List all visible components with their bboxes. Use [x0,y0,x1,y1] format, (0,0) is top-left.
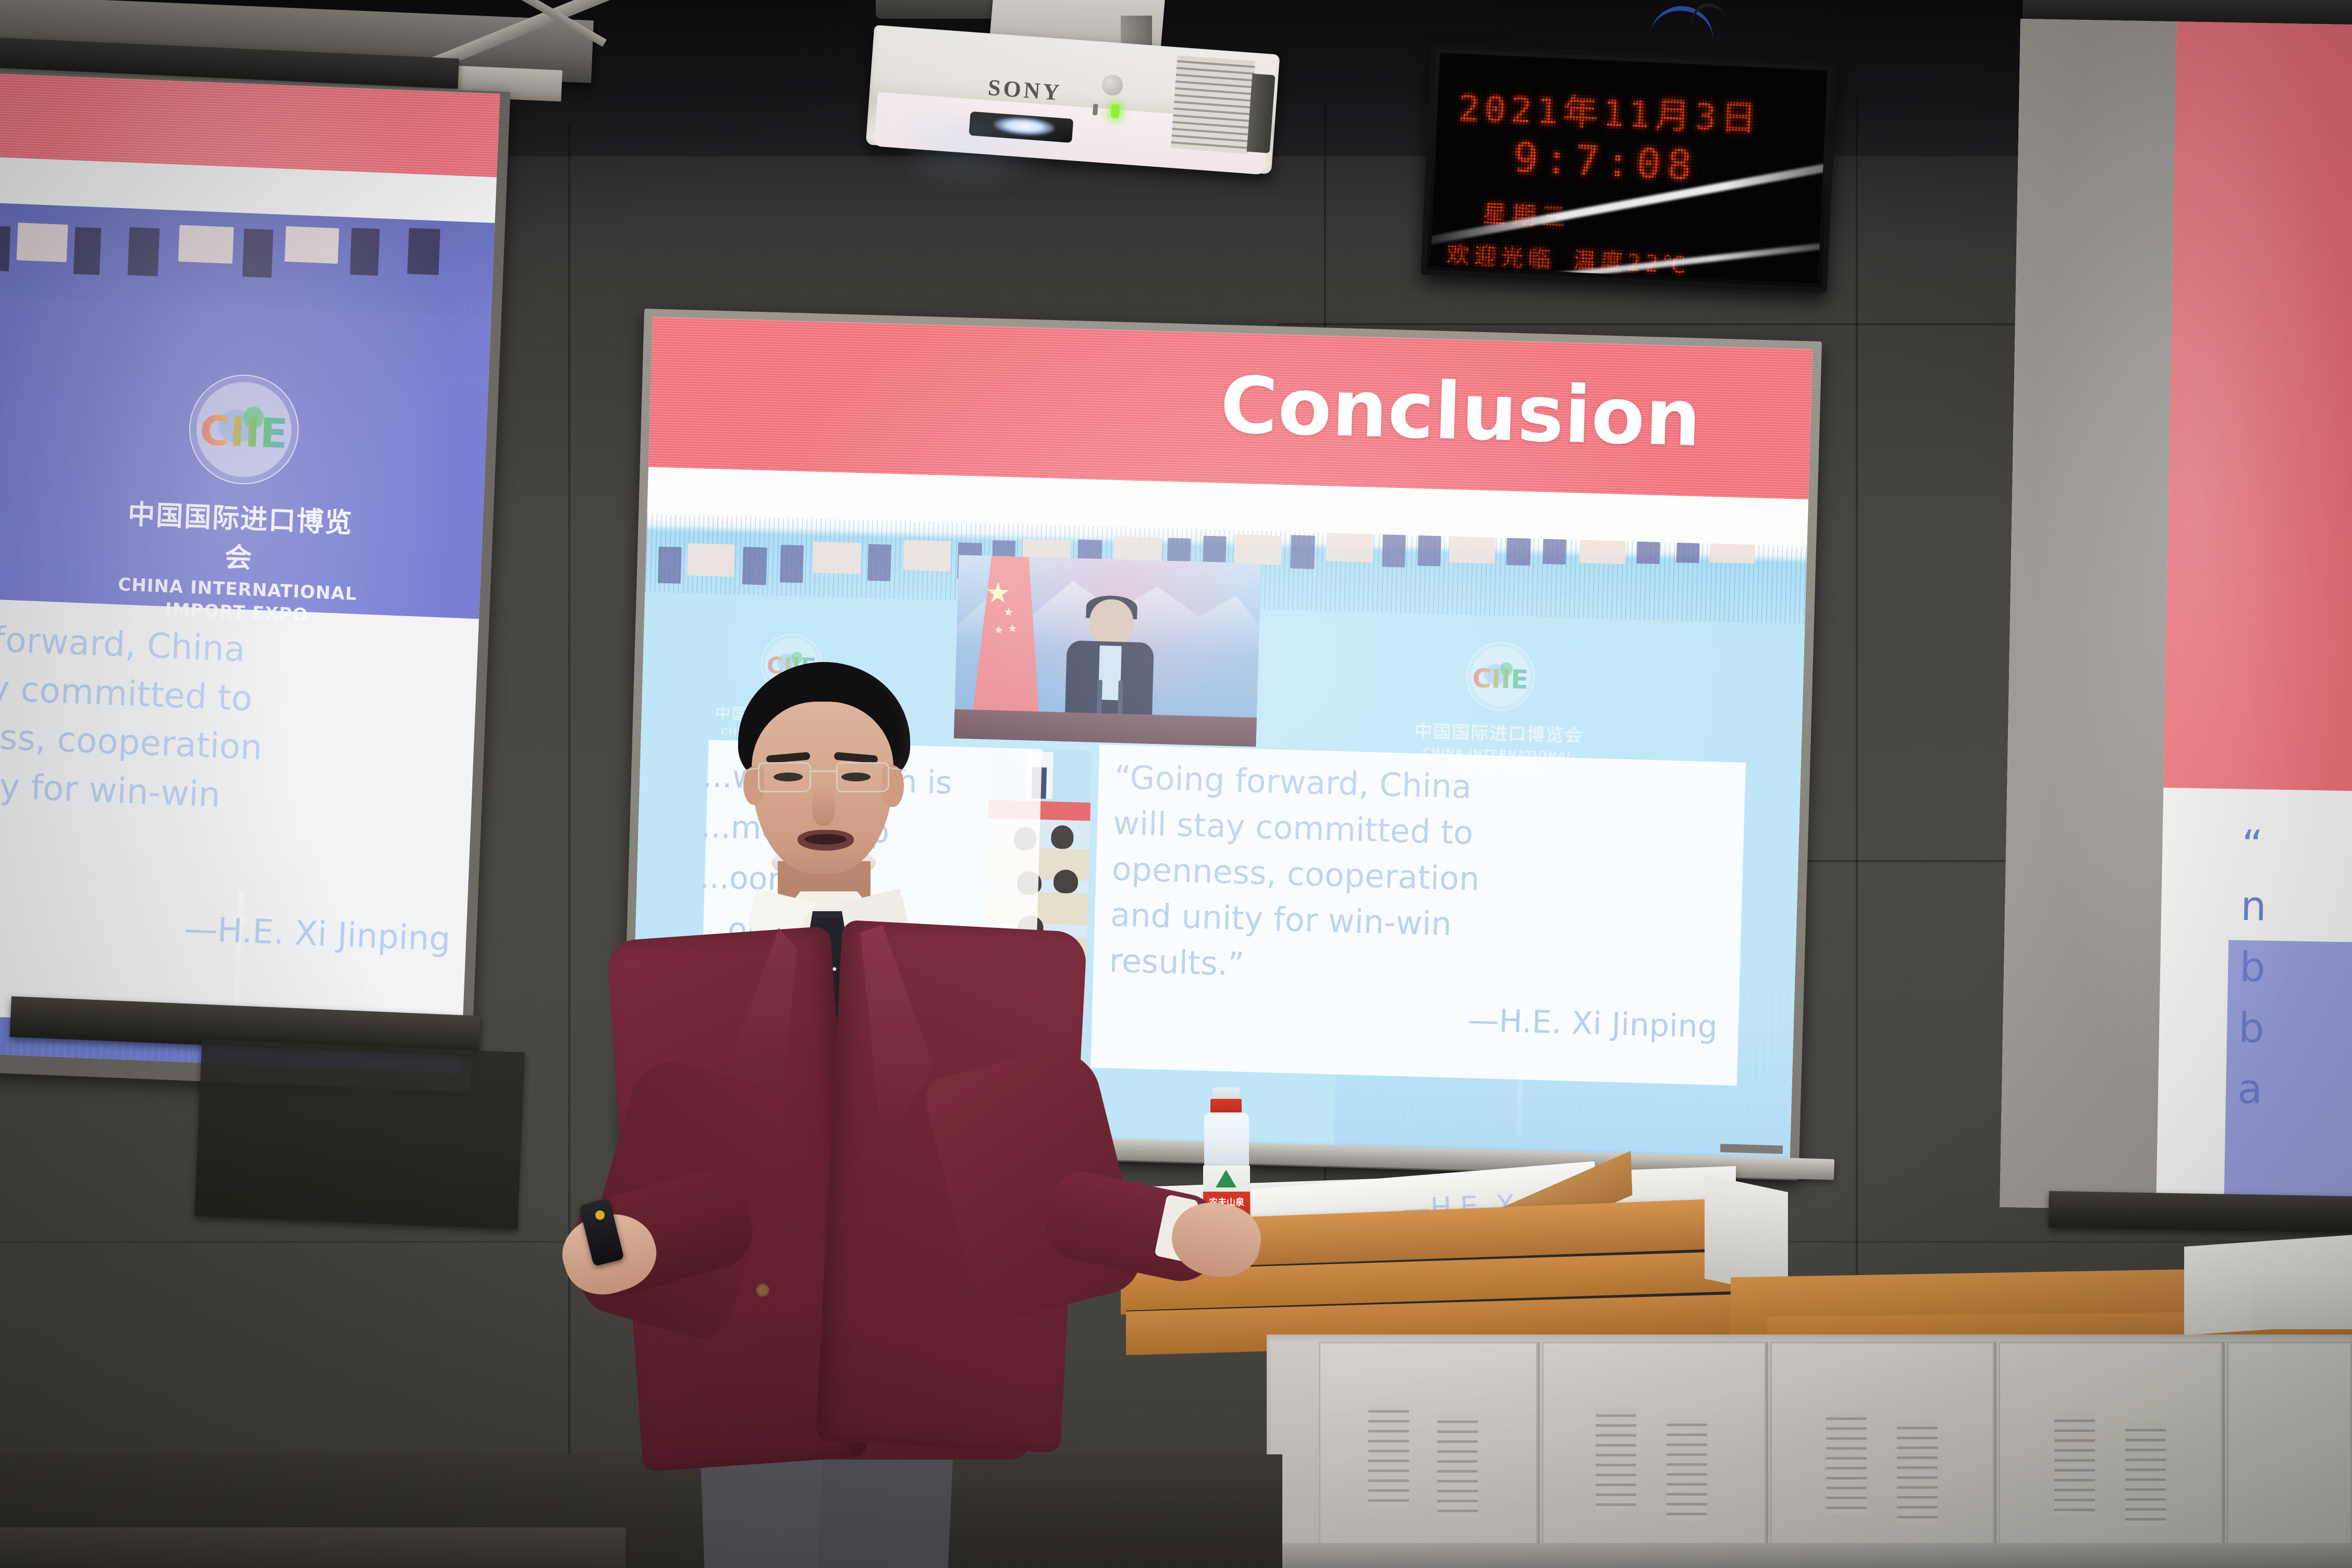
cabinet-seam [1994,1342,1996,1568]
led-message-text: 欢迎光临 温度22℃ [1446,236,1691,280]
cabinet-door[interactable] [1770,1342,1994,1568]
led-time-text: 9:7:08 [1513,134,1699,190]
lecture-hall-photo: SONY 2021年11月3日 9:7:08 星期三 欢迎光临 温度22℃ [0,0,2352,1568]
cabinet-row [1267,1334,2352,1568]
left-slide: CIIE 中国国际进口博览会 CHINA INTERNATIONAL IMPOR… [0,73,500,1073]
ciie-mark-text: CIIE [189,410,298,455]
jacket-button [756,1283,769,1297]
left-quote-text: ng forward, China stay committed to nnes… [0,613,482,879]
cabinet-door[interactable] [1542,1342,1766,1568]
cabinet-vent-icon [1826,1410,1867,1514]
right-slide-title-band [2163,21,2352,791]
main-quote-text: “Going forward, China will stay committe… [1109,754,1741,1001]
counter-equipment-box-2 [2252,1267,2352,1329]
whiteboard-tray-nub [1720,1144,1783,1154]
led-clock-display: 2021年11月3日 9:7:08 星期三 欢迎光临 温度22℃ [1420,43,1837,293]
wall-seam [1856,94,1858,1345]
ciie-chinese-text: 中国国际进口博览会 [1413,717,1585,747]
speaker-mouth-open [805,834,847,844]
cabinet-vent-icon [1897,1419,1938,1524]
cabinet-vent-icon [1667,1416,1707,1521]
right-screen-bottom-bar [2048,1191,2352,1233]
cabinet-door[interactable] [2227,1342,2352,1568]
left-projection-screen: CIIE 中国国际进口博览会 CHINA INTERNATIONAL IMPOR… [0,73,500,1073]
right-slide-dark-edge [2000,19,2177,1210]
cabinet-door[interactable] [1999,1342,2223,1568]
left-slide-body: CIIE 中国国际进口博览会 CHINA INTERNATIONAL IMPOR… [0,202,495,1073]
ciie-chinese-text: 中国国际进口博览会 [116,492,364,580]
left-ciie-logo: CIIE 中国国际进口博览会 CHINA INTERNATIONAL IMPOR… [114,370,369,628]
left-screen-shadow [194,1039,525,1230]
led-screen: 2021年11月3日 9:7:08 星期三 欢迎光临 温度22℃ [1430,53,1828,283]
projector-light-beam [907,119,1063,192]
projector-standby-led-icon [1093,104,1098,116]
cabinet-plinth [1267,1543,2352,1568]
cabinet-door[interactable] [1319,1342,1538,1568]
cabinet-vent-icon [1437,1413,1478,1517]
speaker-presenter [584,662,1189,1568]
cabinet-vent-icon [1368,1403,1409,1507]
cabinet-seam [2223,1342,2225,1568]
projector-brand-label: SONY [987,74,1063,106]
led-date-text: 2021年11月3日 [1457,79,1762,141]
floor-edge [0,1527,626,1568]
right-projection-screen: “ n b b a [2000,19,2352,1214]
ciie-mark-text: CIIE [1467,665,1534,693]
cabinet-seam [1538,1342,1540,1568]
speaker-nose [812,785,835,826]
cabinet-vent-icon [2125,1422,2166,1526]
bottle-shoulder [1204,1112,1249,1171]
projector-power-led-icon [1111,104,1120,118]
cabinet-seam [1766,1342,1768,1568]
speaker-chin [771,846,876,880]
projector-vent-icon [1171,55,1256,154]
cabinet-vent-icon [2054,1412,2095,1516]
right-quote-text: “ n b b a [2237,815,2352,1123]
right-slide: “ n b b a [2000,19,2352,1214]
cabinet-vent-icon [1596,1407,1636,1511]
